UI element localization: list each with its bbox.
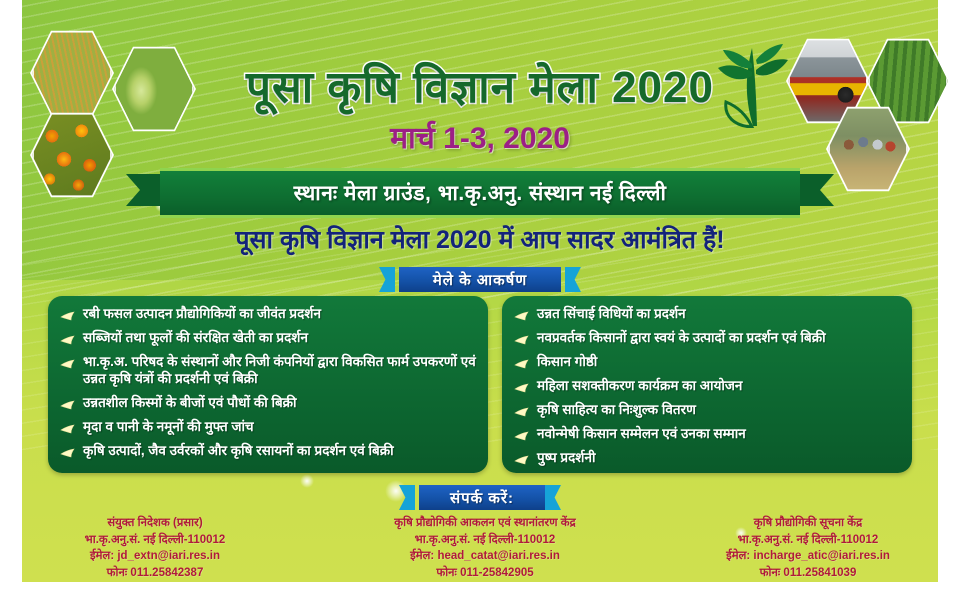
contact-email-value[interactable]: head_catat@iari.res.in [437, 550, 559, 562]
list-item-label: उन्नत सिंचाई विधियों का प्रदर्शन [537, 306, 686, 323]
hand-pointer-icon [514, 454, 530, 467]
contact-name: कृषि प्रौद्योगिकी आकलन एवं स्थानांतरण के… [320, 515, 650, 532]
contact-phone-label: फोनः [436, 567, 457, 579]
hand-pointer-icon [60, 310, 76, 323]
contact-email-row: ईमेल: head_catat@iari.res.in [320, 548, 650, 565]
hand-pointer-icon [514, 406, 530, 419]
contact-email-row: ईमेल: jd_extn@iari.res.in [20, 548, 290, 565]
hand-pointer-icon [514, 358, 530, 371]
contact-block-atic: कृषि प्रौद्योगिकी सूचना केंद्र भा.कृ.अनु… [672, 515, 944, 582]
hand-pointer-icon [60, 334, 76, 347]
list-item: मृदा व पानी के नमूनों की मुफ्त जांच [58, 419, 480, 436]
list-item: नवोन्मेषी किसान सम्मेलन एवं उनका सम्मान [512, 426, 904, 443]
hand-pointer-icon [514, 382, 530, 395]
attractions-list-left: रबी फसल उत्पादन प्रौद्योगिकियों का जीवंत… [48, 296, 488, 477]
list-item-label: किसान गोष्ठी [537, 354, 597, 371]
attractions-heading-text: मेले के आकर्षण [433, 270, 527, 290]
list-item-label: रबी फसल उत्पादन प्रौद्योगिकियों का जीवंत… [83, 306, 321, 323]
list-item-label: उन्नतशील किस्मों के बीजों एवं पौधों की ब… [83, 395, 297, 412]
list-item: सब्जियों तथा फूलों की संरक्षित खेती का प… [58, 330, 480, 347]
contact-email-row: ईमेल: incharge_atic@iari.res.in [672, 548, 944, 565]
contact-heading-text: संपर्क करें: [450, 488, 514, 508]
contact-email-label: ईमेल: [90, 550, 114, 562]
venue-ribbon: स्थानः मेला ग्राउंड, भा.कृ.अनु. संस्थान … [160, 168, 800, 218]
contact-phone-value: 011.25841039 [783, 567, 856, 579]
event-date: मार्च 1-3, 2020 [0, 116, 960, 157]
list-item-label: नवोन्मेषी किसान सम्मेलन एवं उनका सम्मान [537, 426, 746, 443]
contact-phone-row: फोनः 011.25841039 [672, 565, 944, 582]
contact-phone-row: फोनः 011-25842905 [320, 565, 650, 582]
list-item-label: कृषि उत्पादों, जैव उर्वरकों और कृषि रसाय… [83, 443, 394, 460]
contact-name: कृषि प्रौद्योगिकी सूचना केंद्र [672, 515, 944, 532]
contact-block-joint-director: संयुक्त निदेशक (प्रसार) भा.कृ.अनु.सं. नई… [20, 515, 290, 582]
hand-pointer-icon [514, 310, 530, 323]
list-item: महिला सशक्तीकरण कार्यक्रम का आयोजन [512, 378, 904, 395]
hand-pointer-icon [514, 334, 530, 347]
contact-email-value[interactable]: incharge_atic@iari.res.in [753, 550, 890, 562]
list-item-label: कृषि साहित्य का निःशुल्क वितरण [537, 402, 696, 419]
list-item-label: भा.कृ.अ. परिषद के संस्थानों और निजी कंपन… [83, 354, 480, 388]
contact-phone-value: 011.25842387 [130, 567, 203, 579]
list-item: रबी फसल उत्पादन प्रौद्योगिकियों का जीवंत… [58, 306, 480, 323]
list-item: पुष्प प्रदर्शनी [512, 450, 904, 467]
contact-address: भा.कृ.अनु.सं. नई दिल्ली-110012 [320, 532, 650, 549]
contact-address: भा.कृ.अनु.सं. नई दिल्ली-110012 [672, 532, 944, 549]
hand-pointer-icon [60, 423, 76, 436]
attractions-heading-banner: मेले के आकर्षण [399, 267, 561, 292]
contact-phone-row: फोनः 011.25842387 [20, 565, 290, 582]
list-item-label: मृदा व पानी के नमूनों की मुफ्त जांच [83, 419, 254, 436]
contact-phone-label: फोनः [760, 567, 781, 579]
venue-text: स्थानः मेला ग्राउंड, भा.कृ.अनु. संस्थान … [294, 179, 667, 207]
list-item-label: महिला सशक्तीकरण कार्यक्रम का आयोजन [537, 378, 742, 395]
contact-address: भा.कृ.अनु.सं. नई दिल्ली-110012 [20, 532, 290, 549]
list-item: उन्नतशील किस्मों के बीजों एवं पौधों की ब… [58, 395, 480, 412]
contact-phone-value: 011-25842905 [460, 567, 534, 579]
list-item: नवप्रवर्तक किसानों द्वारा स्वयं के उत्पा… [512, 330, 904, 347]
hand-pointer-icon [60, 447, 76, 460]
attractions-panel-left: रबी फसल उत्पादन प्रौद्योगिकियों का जीवंत… [48, 296, 488, 473]
list-item-label: पुष्प प्रदर्शनी [537, 450, 595, 467]
list-item-label: नवप्रवर्तक किसानों द्वारा स्वयं के उत्पा… [537, 330, 826, 347]
list-item: कृषि साहित्य का निःशुल्क वितरण [512, 402, 904, 419]
list-item: उन्नत सिंचाई विधियों का प्रदर्शन [512, 306, 904, 323]
list-item: किसान गोष्ठी [512, 354, 904, 371]
contact-name: संयुक्त निदेशक (प्रसार) [20, 515, 290, 532]
contact-email-label: ईमेल: [410, 550, 434, 562]
contact-block-catat: कृषि प्रौद्योगिकी आकलन एवं स्थानांतरण के… [320, 515, 650, 582]
contact-phone-label: फोनः [107, 567, 128, 579]
list-item: भा.कृ.अ. परिषद के संस्थानों और निजी कंपन… [58, 354, 480, 388]
page-title: पूसा कृषि विज्ञान मेला 2020 [0, 55, 960, 115]
poster: पूसा कृषि विज्ञान मेला 2020 मार्च 1-3, 2… [0, 0, 960, 582]
contact-email-label: ईमेल: [726, 550, 750, 562]
contact-heading-banner: संपर्क करें: [419, 485, 545, 510]
invitation-text: पूसा कृषि विज्ञान मेला 2020 में आप सादर … [0, 222, 960, 256]
hand-pointer-icon [514, 430, 530, 443]
hand-pointer-icon [60, 399, 76, 412]
attractions-list-right: उन्नत सिंचाई विधियों का प्रदर्शन नवप्रवर… [502, 296, 912, 484]
attractions-panel-right: उन्नत सिंचाई विधियों का प्रदर्शन नवप्रवर… [502, 296, 912, 473]
contact-email-value[interactable]: jd_extn@iari.res.in [117, 550, 220, 562]
list-item: कृषि उत्पादों, जैव उर्वरकों और कृषि रसाय… [58, 443, 480, 460]
list-item-label: सब्जियों तथा फूलों की संरक्षित खेती का प… [83, 330, 308, 347]
hand-pointer-icon [60, 358, 76, 371]
